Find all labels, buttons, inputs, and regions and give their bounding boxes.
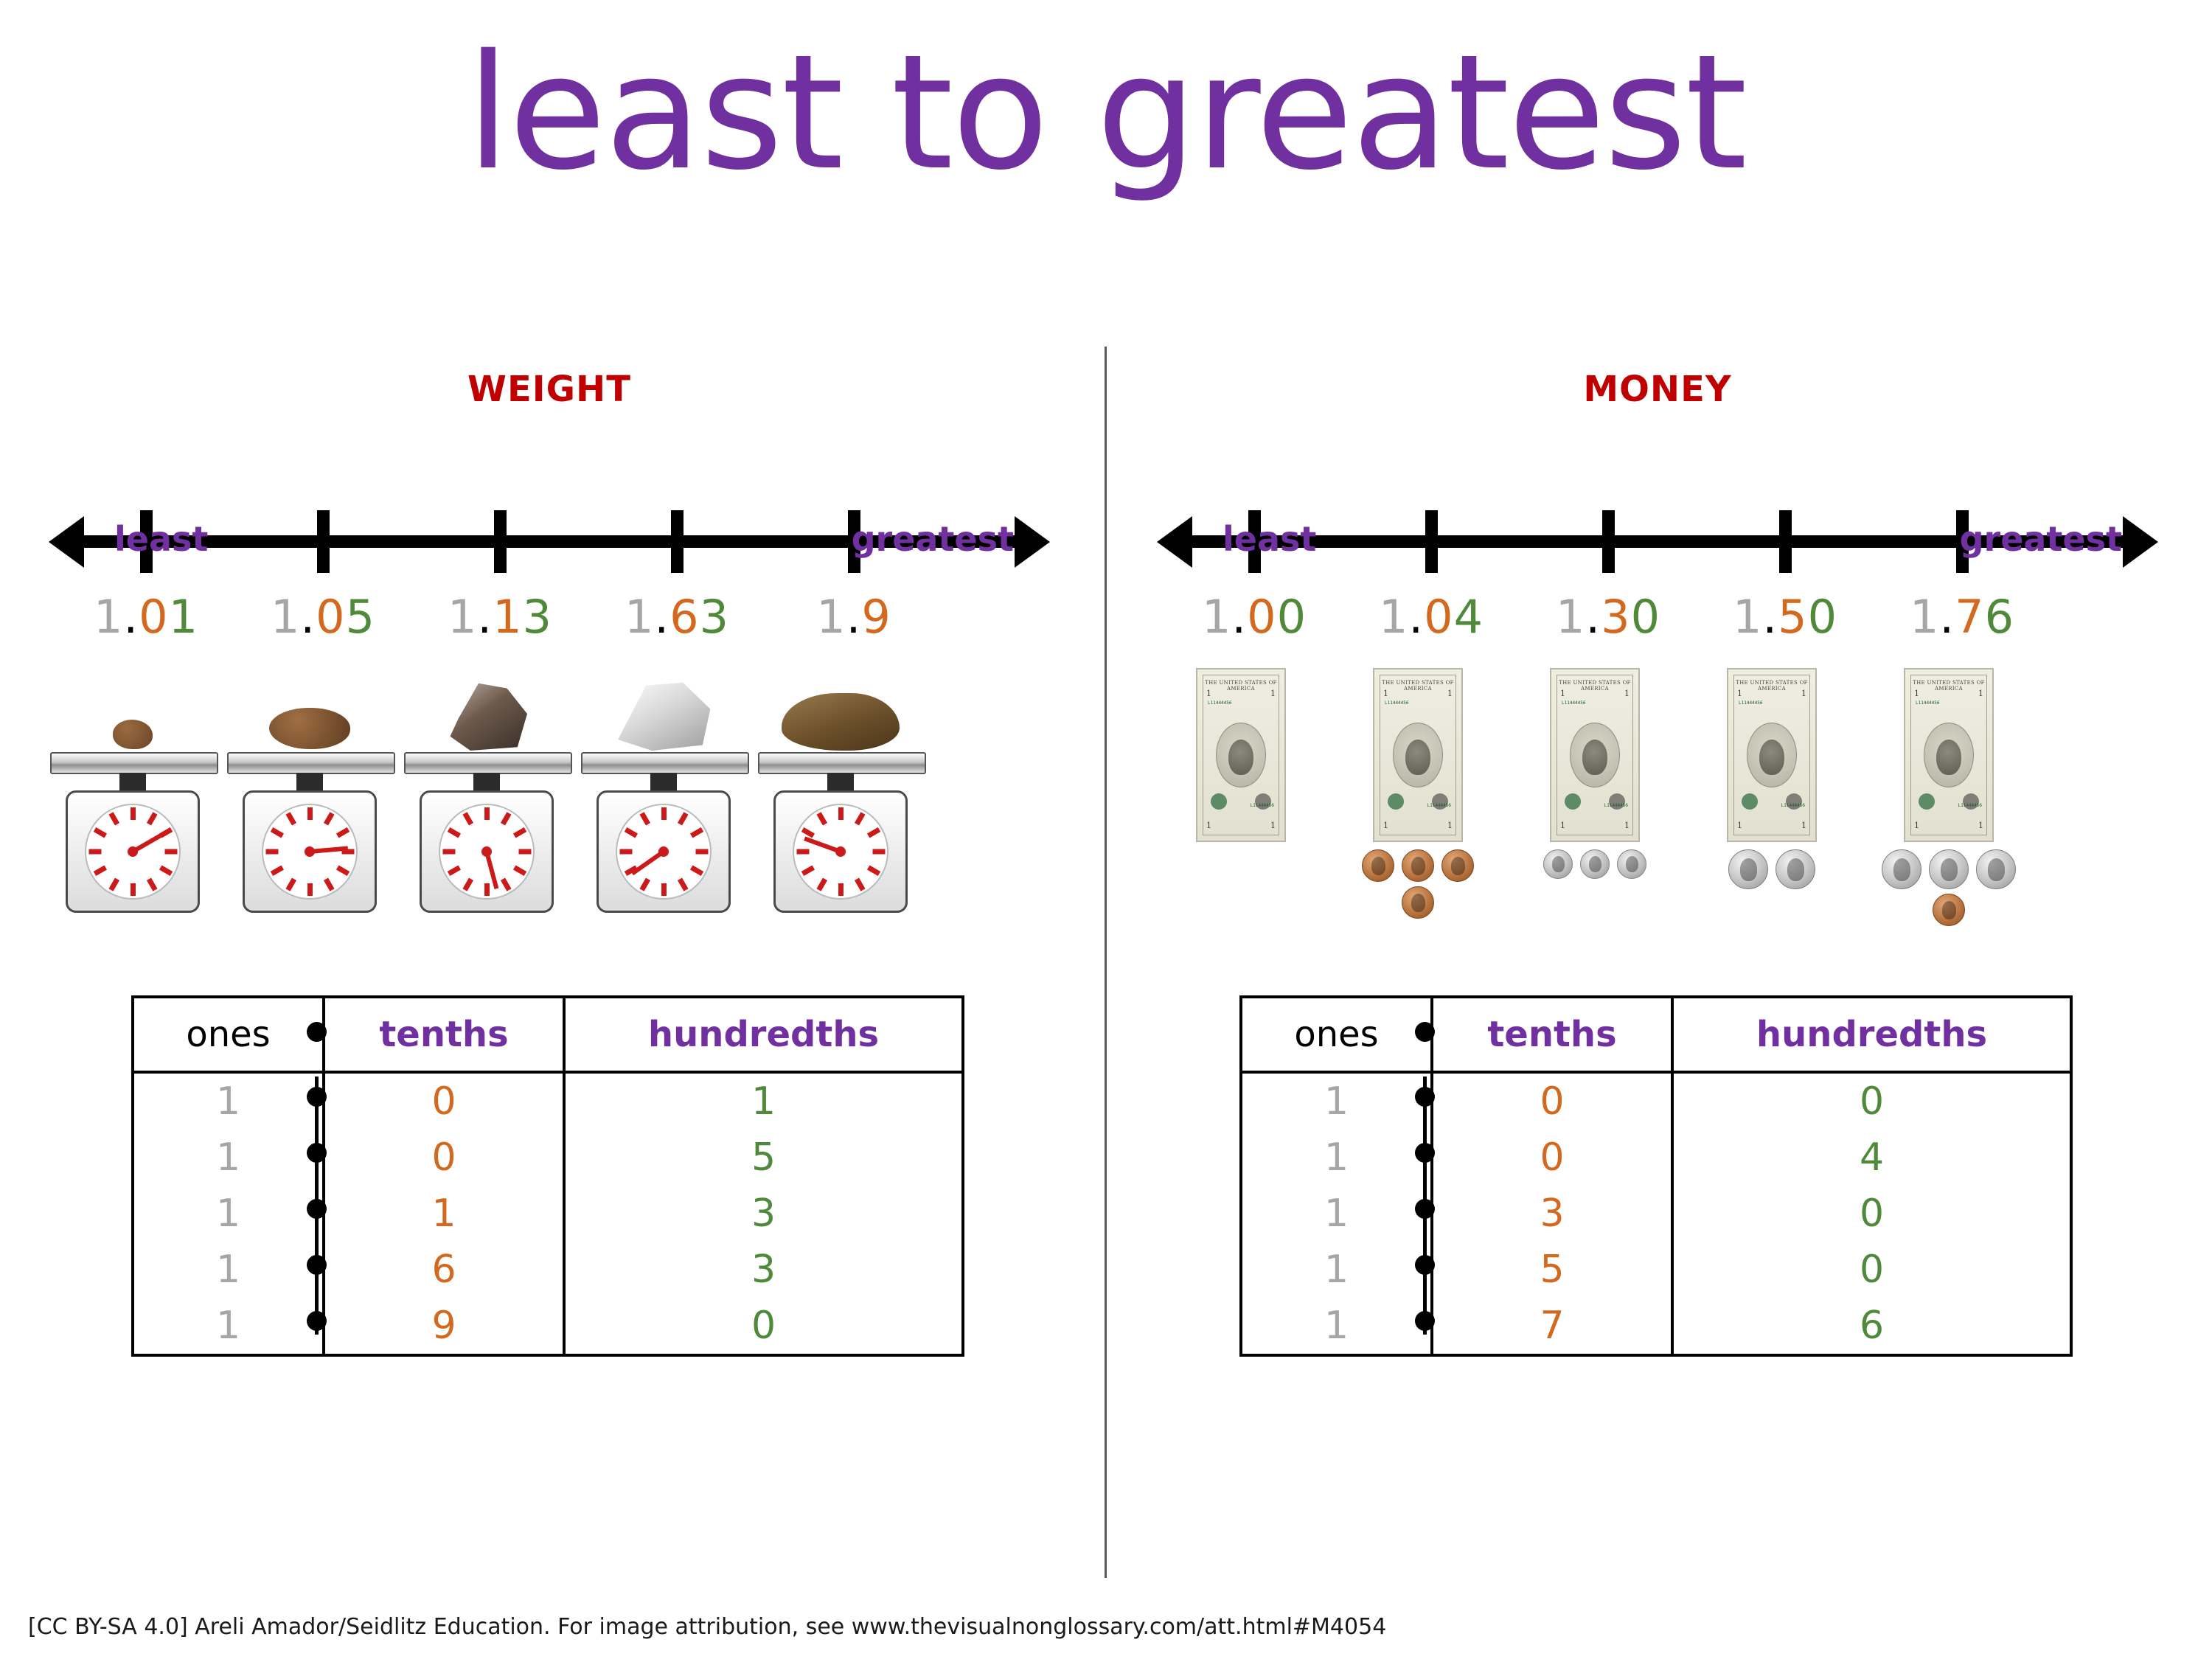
- value-label: 1.05: [234, 590, 411, 644]
- bill-corner-numeral: 1: [1447, 689, 1453, 698]
- cell-ones: 1: [134, 1242, 322, 1298]
- kitchen-scale-icon: [50, 752, 215, 936]
- bill-serial-number: L11444456: [1208, 700, 1232, 706]
- cell-hundredths: 0: [1674, 1186, 2070, 1242]
- bill-corner-numeral: 1: [1270, 821, 1276, 830]
- scale-item: [752, 664, 929, 973]
- decimal-point: .: [1585, 590, 1601, 644]
- digit-hundredths: 6: [1985, 590, 2014, 644]
- scale-item: [221, 664, 398, 973]
- digit-ones: 1: [94, 590, 123, 644]
- money-item: THE UNITED STATES OF AMERICA 1 1 1 1 L11…: [1506, 664, 1683, 973]
- cell-hundredths: 5: [566, 1130, 961, 1186]
- one-dollar-bill-icon: THE UNITED STATES OF AMERICA 1 1 1 1 L11…: [1727, 668, 1817, 842]
- digit-ones: 1: [816, 590, 846, 644]
- objects-row-weight: [44, 664, 1054, 973]
- scale-item: [398, 664, 575, 973]
- bill-top-text: THE UNITED STATES OF AMERICA: [1205, 680, 1277, 686]
- bill-corner-numeral: 1: [1560, 689, 1565, 698]
- digit-ones: 1: [625, 590, 654, 644]
- digit-ones: 1: [1556, 590, 1585, 644]
- bill-serial-number: L11444456: [1916, 700, 1940, 706]
- table-row: 1 1 3: [134, 1186, 961, 1242]
- cell-hundredths: 4: [1674, 1130, 2070, 1186]
- bill-corner-numeral: 1: [1801, 689, 1806, 698]
- bill-serial-number: L11444456: [1562, 700, 1586, 706]
- dime-coin-icon: [1580, 849, 1610, 879]
- decimal-point: .: [1231, 590, 1247, 644]
- coin-group: [1875, 849, 2023, 926]
- cell-tenths: 5: [1430, 1242, 1674, 1298]
- digit-hundredths: 0: [1631, 590, 1660, 644]
- decimal-point: .: [1939, 590, 1955, 644]
- panel-title-weight: WEIGHT: [0, 369, 1099, 410]
- number-line-weight: least greatest: [44, 494, 1054, 590]
- kitchen-scale-icon: [227, 752, 392, 936]
- digit-ones: 1: [1379, 590, 1408, 644]
- objects-row-money: THE UNITED STATES OF AMERICA 1 1 1 1 L11…: [1152, 664, 2163, 973]
- dime-coin-icon: [1543, 849, 1573, 879]
- bill-corner-numeral: 1: [1914, 689, 1919, 698]
- number-line-tick: [1425, 510, 1438, 573]
- page-title: least to greatest: [0, 29, 2212, 196]
- table-row: 1 0 5: [134, 1130, 961, 1186]
- bill-serial-number: L11444456: [1739, 700, 1763, 706]
- table-header-row: ones tenths hundredths: [1242, 998, 2070, 1074]
- bill-serial-number: L11444456: [1385, 700, 1409, 706]
- bill-corner-numeral: 1: [1206, 689, 1211, 698]
- table-row: 1 0 1: [134, 1074, 961, 1130]
- column-header-hundredths: hundredths: [566, 998, 961, 1071]
- bill-corner-numeral: 1: [1560, 821, 1565, 830]
- number-line-least-label: least: [114, 519, 208, 559]
- values-row-money: 1.00 1.04 1.30 1.50 1.76: [1152, 590, 2163, 656]
- penny-coin-icon: [1402, 886, 1434, 919]
- scale-dial: [85, 804, 181, 900]
- cell-hundredths: 0: [1674, 1074, 2070, 1130]
- digit-tenths: 3: [1601, 590, 1630, 644]
- digit-hundredths: 0: [1808, 590, 1837, 644]
- bill-top-text: THE UNITED STATES OF AMERICA: [1382, 680, 1454, 686]
- values-row-weight: 1.01 1.05 1.13 1.63 1.9: [44, 590, 1054, 656]
- bill-top-text: THE UNITED STATES OF AMERICA: [1736, 680, 1808, 686]
- scale-dial: [616, 804, 712, 900]
- arrow-left-icon: [1157, 516, 1192, 568]
- value-label: 1.50: [1697, 590, 1874, 644]
- scale-item: [575, 664, 752, 973]
- value-label: 1.76: [1874, 590, 2051, 644]
- column-header-ones: ones: [1242, 998, 1430, 1071]
- coin-group: [1344, 849, 1492, 919]
- bill-corner-numeral: 1: [1737, 689, 1742, 698]
- cell-tenths: 0: [322, 1074, 566, 1130]
- digit-tenths: 0: [316, 590, 345, 644]
- bill-top-text: THE UNITED STATES OF AMERICA: [1559, 680, 1631, 686]
- money-item: THE UNITED STATES OF AMERICA 1 1 1 1 L11…: [1329, 664, 1506, 973]
- digit-ones: 1: [271, 590, 300, 644]
- quarter-coin-icon: [1976, 849, 2016, 889]
- digit-tenths: 7: [1955, 590, 1984, 644]
- bill-serial-number: L11444456: [1427, 803, 1451, 808]
- scale-dial: [262, 804, 358, 900]
- penny-coin-icon: [1441, 849, 1474, 882]
- number-line-tick: [1779, 510, 1792, 573]
- digit-ones: 1: [1910, 590, 1939, 644]
- coin-group: [1698, 849, 1846, 889]
- digit-tenths: 5: [1778, 590, 1807, 644]
- table-row: 1 9 0: [134, 1298, 961, 1354]
- bill-corner-numeral: 1: [1914, 821, 1919, 830]
- bill-corner-numeral: 1: [1270, 689, 1276, 698]
- decimal-point: .: [846, 590, 862, 644]
- cell-ones: 1: [134, 1186, 322, 1242]
- decimal-point: .: [300, 590, 316, 644]
- bill-corner-numeral: 1: [1206, 821, 1211, 830]
- column-header-tenths: tenths: [1430, 998, 1674, 1071]
- table-row: 1 7 6: [1242, 1298, 2070, 1354]
- bill-corner-numeral: 1: [1978, 821, 1983, 830]
- bill-corner-numeral: 1: [1737, 821, 1742, 830]
- number-line-tick: [1602, 510, 1615, 573]
- money-item: THE UNITED STATES OF AMERICA 1 1 1 1 L11…: [1683, 664, 1860, 973]
- kitchen-scale-icon: [581, 752, 746, 936]
- value-label: 1.30: [1520, 590, 1697, 644]
- rock-large-icon: [782, 693, 900, 751]
- cell-hundredths: 3: [566, 1186, 961, 1242]
- value-label: 1.01: [58, 590, 234, 644]
- quarter-coin-icon: [1728, 849, 1768, 889]
- cell-ones: 1: [134, 1130, 322, 1186]
- cell-tenths: 0: [1430, 1074, 1674, 1130]
- rock-small-icon: [113, 720, 153, 749]
- digit-hundredths: 3: [523, 590, 552, 644]
- arrow-right-icon: [1015, 516, 1050, 568]
- bill-corner-numeral: 1: [1447, 821, 1453, 830]
- cell-tenths: 1: [322, 1186, 566, 1242]
- kitchen-scale-icon: [758, 752, 923, 936]
- digit-hundredths: 4: [1454, 590, 1484, 644]
- digit-hundredths: 0: [1277, 590, 1307, 644]
- attribution-footer: [CC BY-SA 4.0] Areli Amador/Seidlitz Edu…: [28, 1614, 1386, 1640]
- digit-hundredths: 5: [346, 590, 375, 644]
- cell-hundredths: 3: [566, 1242, 961, 1298]
- table-row: 1 5 0: [1242, 1242, 2070, 1298]
- cell-hundredths: 0: [1674, 1242, 2070, 1298]
- panel-weight: WEIGHT least greatest 1.01 1.05 1.13 1.6…: [0, 347, 1099, 1585]
- quarter-coin-icon: [1775, 849, 1815, 889]
- bill-corner-numeral: 1: [1624, 821, 1630, 830]
- panel-money: MONEY least greatest 1.00 1.04 1.30 1.50…: [1108, 347, 2207, 1585]
- digit-tenths: 9: [861, 590, 891, 644]
- bill-top-text: THE UNITED STATES OF AMERICA: [1913, 680, 1985, 686]
- cell-hundredths: 1: [566, 1074, 961, 1130]
- dime-coin-icon: [1617, 849, 1646, 879]
- decimal-point: .: [477, 590, 493, 644]
- digit-tenths: 6: [669, 590, 699, 644]
- digit-hundredths: 3: [700, 590, 729, 644]
- cell-tenths: 0: [1430, 1130, 1674, 1186]
- one-dollar-bill-icon: THE UNITED STATES OF AMERICA 1 1 1 1 L11…: [1196, 668, 1286, 842]
- bill-corner-numeral: 1: [1801, 821, 1806, 830]
- table-row: 1 0 4: [1242, 1130, 2070, 1186]
- penny-coin-icon: [1933, 894, 1965, 926]
- cell-ones: 1: [1242, 1242, 1430, 1298]
- digit-ones: 1: [1733, 590, 1762, 644]
- number-line-greatest-label: greatest: [1960, 519, 2122, 559]
- rock-dark-icon: [446, 680, 527, 751]
- cell-ones: 1: [1242, 1074, 1430, 1130]
- quarter-coin-icon: [1882, 849, 1921, 889]
- scale-dial: [439, 804, 535, 900]
- money-item: THE UNITED STATES OF AMERICA 1 1 1 1 L11…: [1152, 664, 1329, 973]
- digit-hundredths: 1: [169, 590, 198, 644]
- cell-tenths: 7: [1430, 1298, 1674, 1354]
- quarter-coin-icon: [1929, 849, 1969, 889]
- cell-tenths: 9: [322, 1298, 566, 1354]
- panel-divider: [1105, 347, 1107, 1578]
- decimal-point: .: [123, 590, 139, 644]
- penny-coin-icon: [1402, 849, 1434, 882]
- value-label: 1.04: [1343, 590, 1520, 644]
- cell-ones: 1: [134, 1298, 322, 1354]
- one-dollar-bill-icon: THE UNITED STATES OF AMERICA 1 1 1 1 L11…: [1550, 668, 1640, 842]
- digit-tenths: 1: [493, 590, 522, 644]
- cell-tenths: 6: [322, 1242, 566, 1298]
- place-value-table-money: ones tenths hundredths 1 0 0 1 0 4 1 3 0…: [1239, 995, 2073, 1357]
- digit-tenths: 0: [1424, 590, 1453, 644]
- bill-serial-number: L11444456: [1958, 803, 1982, 808]
- column-header-hundredths: hundredths: [1674, 998, 2070, 1071]
- arrow-left-icon: [49, 516, 84, 568]
- number-line-tick: [671, 510, 684, 573]
- table-row: 1 0 0: [1242, 1074, 2070, 1130]
- scale-item: [44, 664, 221, 973]
- value-label: 1.9: [765, 590, 942, 644]
- bill-corner-numeral: 1: [1624, 689, 1630, 698]
- number-line-least-label: least: [1222, 519, 1316, 559]
- kitchen-scale-icon: [404, 752, 569, 936]
- scale-dial: [793, 804, 888, 900]
- digit-tenths: 0: [1247, 590, 1276, 644]
- rock-white-icon: [615, 681, 712, 751]
- bill-corner-numeral: 1: [1383, 689, 1388, 698]
- bill-serial-number: L11444456: [1781, 803, 1805, 808]
- number-line-tick: [317, 510, 330, 573]
- table-row: 1 6 3: [134, 1242, 961, 1298]
- bill-corner-numeral: 1: [1978, 689, 1983, 698]
- value-label: 1.00: [1166, 590, 1343, 644]
- value-label: 1.63: [588, 590, 765, 644]
- one-dollar-bill-icon: THE UNITED STATES OF AMERICA 1 1 1 1 L11…: [1904, 668, 1994, 842]
- digit-ones: 1: [1202, 590, 1231, 644]
- cell-ones: 1: [134, 1074, 322, 1130]
- cell-ones: 1: [1242, 1298, 1430, 1354]
- rock-medium-icon: [269, 708, 350, 749]
- cell-ones: 1: [1242, 1186, 1430, 1242]
- decimal-point: .: [1408, 590, 1424, 644]
- table-row: 1 3 0: [1242, 1186, 2070, 1242]
- cell-hundredths: 0: [566, 1298, 961, 1354]
- coin-group: [1521, 849, 1669, 879]
- bill-serial-number: L11444456: [1250, 803, 1274, 808]
- column-header-tenths: tenths: [322, 998, 566, 1071]
- number-line-greatest-label: greatest: [852, 519, 1014, 559]
- arrow-right-icon: [2123, 516, 2158, 568]
- value-label: 1.13: [411, 590, 588, 644]
- cell-tenths: 3: [1430, 1186, 1674, 1242]
- bill-corner-numeral: 1: [1383, 821, 1388, 830]
- digit-ones: 1: [448, 590, 477, 644]
- money-item: THE UNITED STATES OF AMERICA 1 1 1 1 L11…: [1860, 664, 2037, 973]
- column-header-ones: ones: [134, 998, 322, 1071]
- cell-tenths: 0: [322, 1130, 566, 1186]
- number-line-tick: [494, 510, 507, 573]
- table-header-row: ones tenths hundredths: [134, 998, 961, 1074]
- bill-serial-number: L11444456: [1604, 803, 1628, 808]
- penny-coin-icon: [1362, 849, 1394, 882]
- number-line-money: least greatest: [1152, 494, 2163, 590]
- cell-ones: 1: [1242, 1130, 1430, 1186]
- one-dollar-bill-icon: THE UNITED STATES OF AMERICA 1 1 1 1 L11…: [1373, 668, 1463, 842]
- place-value-table-weight: ones tenths hundredths 1 0 1 1 0 5 1 1 3…: [131, 995, 964, 1357]
- cell-hundredths: 6: [1674, 1298, 2070, 1354]
- decimal-point: .: [654, 590, 669, 644]
- panel-title-money: MONEY: [1108, 369, 2207, 410]
- digit-tenths: 0: [139, 590, 168, 644]
- decimal-point: .: [1762, 590, 1778, 644]
